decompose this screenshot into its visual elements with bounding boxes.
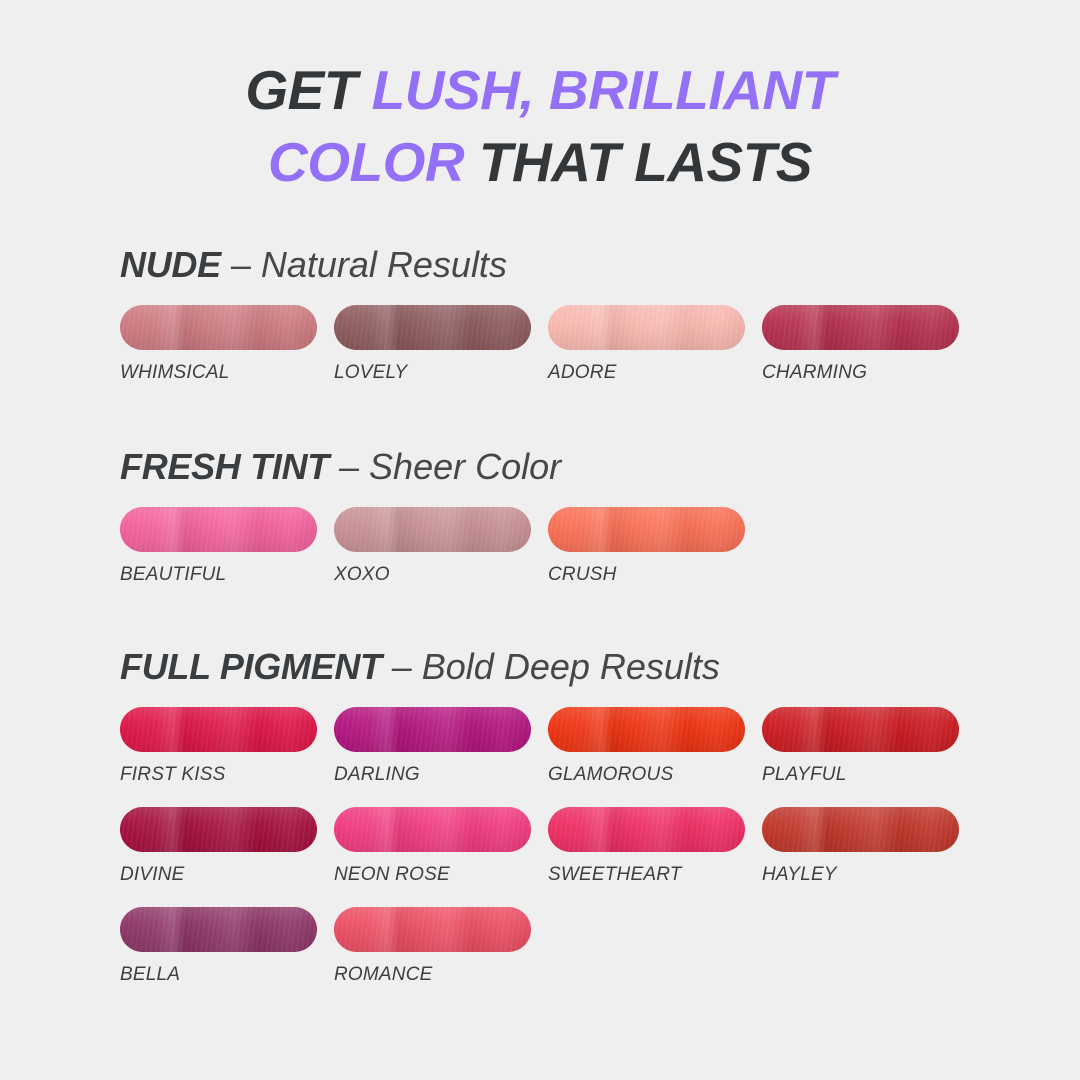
shade-name-label: ROMANCE <box>334 964 531 986</box>
shade-swatch[interactable] <box>120 507 317 552</box>
lipstick-shade-chart: GET LUSH, BRILLIANT COLOR THAT LASTS NUD… <box>0 0 1080 1080</box>
shade-name-label: CHARMING <box>762 362 959 384</box>
headline-text-that-lasts: THAT LASTS <box>464 131 812 193</box>
shade-swatch[interactable] <box>762 305 959 350</box>
swatch-cell[interactable]: SWEETHEART <box>548 807 745 886</box>
swatch-grid: WHIMSICALLOVELYADORECHARMING <box>120 305 507 405</box>
section-description-label: Sheer Color <box>369 446 561 487</box>
section-separator: – <box>382 646 422 687</box>
section-category-label: FULL PIGMENT <box>120 646 382 687</box>
section-category-label: NUDE <box>120 244 221 285</box>
section-category-label: FRESH TINT <box>120 446 329 487</box>
swatch-cell[interactable]: DIVINE <box>120 807 317 886</box>
shade-name-label: XOXO <box>334 564 531 586</box>
shade-name-label: SWEETHEART <box>548 864 745 886</box>
shade-name-label: DIVINE <box>120 864 317 886</box>
swatch-cell[interactable]: PLAYFUL <box>762 707 959 786</box>
section-description-label: Bold Deep Results <box>422 646 720 687</box>
swatch-cell[interactable]: BELLA <box>120 907 317 986</box>
shade-name-label: GLAMOROUS <box>548 764 745 786</box>
shade-swatch[interactable] <box>120 907 317 952</box>
swatch-row: FIRST KISSDARLINGGLAMOROUSPLAYFUL <box>120 707 720 807</box>
shade-swatch[interactable] <box>120 305 317 350</box>
section-separator: – <box>329 446 369 487</box>
shade-section: FULL PIGMENT – Bold Deep ResultsFIRST KI… <box>120 645 720 1007</box>
shade-section: FRESH TINT – Sheer ColorBEAUTIFULXOXOCRU… <box>120 445 561 607</box>
section-description-label: Natural Results <box>261 244 507 285</box>
swatch-cell[interactable]: FIRST KISS <box>120 707 317 786</box>
shade-name-label: PLAYFUL <box>762 764 959 786</box>
shade-swatch[interactable] <box>762 707 959 752</box>
page-headline: GET LUSH, BRILLIANT COLOR THAT LASTS <box>0 54 1080 198</box>
swatch-cell[interactable]: CHARMING <box>762 305 959 384</box>
swatch-row: WHIMSICALLOVELYADORECHARMING <box>120 305 507 405</box>
swatch-grid: BEAUTIFULXOXOCRUSH <box>120 507 561 607</box>
headline-line-1: GET LUSH, BRILLIANT <box>0 54 1080 126</box>
shade-name-label: WHIMSICAL <box>120 362 317 384</box>
shade-name-label: ADORE <box>548 362 745 384</box>
swatch-cell[interactable]: HAYLEY <box>762 807 959 886</box>
shade-swatch[interactable] <box>334 305 531 350</box>
shade-swatch[interactable] <box>548 507 745 552</box>
headline-line-2: COLOR THAT LASTS <box>0 126 1080 198</box>
headline-text-get: GET <box>245 59 371 121</box>
swatch-cell[interactable]: WHIMSICAL <box>120 305 317 384</box>
shade-name-label: NEON ROSE <box>334 864 531 886</box>
swatch-cell[interactable]: CRUSH <box>548 507 745 586</box>
swatch-cell[interactable]: DARLING <box>334 707 531 786</box>
shade-swatch[interactable] <box>334 907 531 952</box>
section-title: FULL PIGMENT – Bold Deep Results <box>120 645 720 689</box>
shade-swatch[interactable] <box>548 807 745 852</box>
shade-swatch[interactable] <box>548 305 745 350</box>
shade-swatch[interactable] <box>334 807 531 852</box>
section-title: NUDE – Natural Results <box>120 243 507 287</box>
shade-name-label: FIRST KISS <box>120 764 317 786</box>
shade-name-label: LOVELY <box>334 362 531 384</box>
section-separator: – <box>221 244 261 285</box>
shade-name-label: BELLA <box>120 964 317 986</box>
shade-swatch[interactable] <box>120 807 317 852</box>
shade-name-label: BEAUTIFUL <box>120 564 317 586</box>
swatch-cell[interactable]: NEON ROSE <box>334 807 531 886</box>
section-title: FRESH TINT – Sheer Color <box>120 445 561 489</box>
shade-swatch[interactable] <box>548 707 745 752</box>
swatch-row: BELLAROMANCE <box>120 907 720 1007</box>
headline-text-color: COLOR <box>268 131 464 193</box>
swatch-cell[interactable]: GLAMOROUS <box>548 707 745 786</box>
shade-swatch[interactable] <box>120 707 317 752</box>
shade-swatch[interactable] <box>334 507 531 552</box>
swatch-cell[interactable]: BEAUTIFUL <box>120 507 317 586</box>
shade-swatch[interactable] <box>762 807 959 852</box>
shade-name-label: HAYLEY <box>762 864 959 886</box>
shade-swatch[interactable] <box>334 707 531 752</box>
swatch-cell[interactable]: XOXO <box>334 507 531 586</box>
swatch-cell[interactable]: LOVELY <box>334 305 531 384</box>
shade-name-label: DARLING <box>334 764 531 786</box>
swatch-cell[interactable]: ROMANCE <box>334 907 531 986</box>
headline-text-lush-brilliant: LUSH, BRILLIANT <box>372 59 835 121</box>
shade-section: NUDE – Natural ResultsWHIMSICALLOVELYADO… <box>120 243 507 405</box>
swatch-row: DIVINENEON ROSESWEETHEARTHAYLEY <box>120 807 720 907</box>
swatch-grid: FIRST KISSDARLINGGLAMOROUSPLAYFULDIVINEN… <box>120 707 720 1007</box>
shade-name-label: CRUSH <box>548 564 745 586</box>
swatch-row: BEAUTIFULXOXOCRUSH <box>120 507 561 607</box>
swatch-cell[interactable]: ADORE <box>548 305 745 384</box>
